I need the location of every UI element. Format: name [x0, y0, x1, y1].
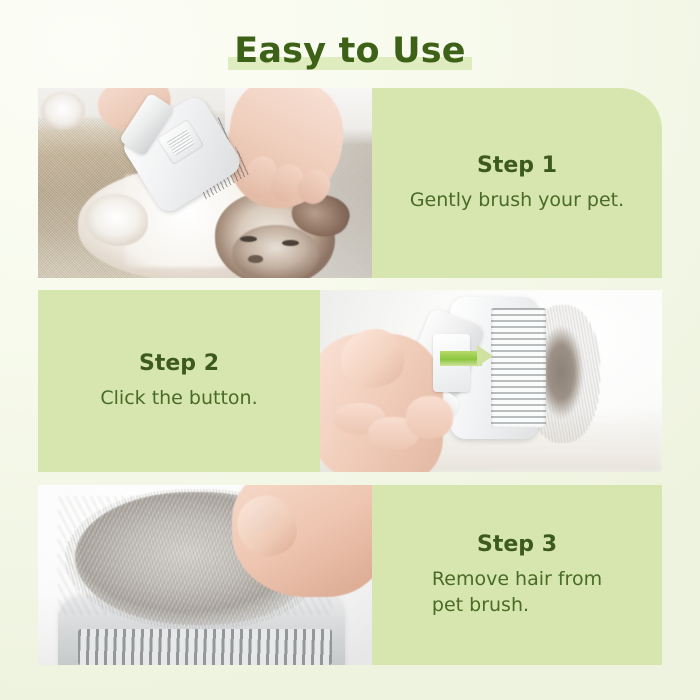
- page-title-text: Easy to Use: [234, 31, 466, 71]
- brush-comb-slots: [78, 629, 332, 665]
- step-row-1: Step 1 Gently brush your pet.: [38, 88, 662, 278]
- step-3-text-panel: Step 3 Remove hair from pet brush.: [372, 485, 662, 665]
- step-3-photo: [38, 485, 372, 665]
- infographic-page: Easy to Use: [0, 0, 700, 700]
- cat-nose: [248, 255, 263, 263]
- step-1-photo: [38, 88, 372, 278]
- cat-paw-lower: [85, 194, 148, 245]
- green-arrow-icon: [440, 345, 502, 374]
- step-2-description: Click the button.: [100, 385, 257, 411]
- step-1-text-panel: Step 1 Gently brush your pet.: [372, 88, 662, 278]
- step-row-3: Step 3 Remove hair from pet brush.: [38, 485, 662, 665]
- step-1-title: Step 1: [477, 153, 557, 179]
- step-2-photo: [320, 290, 662, 472]
- page-title-inner: Easy to Use: [228, 28, 472, 74]
- knuckle-3: [406, 396, 454, 440]
- cat-paw-upper: [41, 92, 84, 130]
- step-3-title: Step 3: [477, 532, 557, 558]
- step-1-description: Gently brush your pet.: [410, 187, 624, 213]
- step-row-2: Step 2 Click the button.: [38, 290, 662, 472]
- cat-face: [232, 225, 319, 278]
- step-3-description: Remove hair from pet brush.: [432, 566, 602, 618]
- step-2-title: Step 2: [139, 351, 219, 377]
- page-title: Easy to Use: [0, 28, 700, 80]
- arrow-tip: [477, 345, 493, 367]
- arrow-shaft: [440, 351, 482, 366]
- step-2-text-panel: Step 2 Click the button.: [38, 290, 320, 472]
